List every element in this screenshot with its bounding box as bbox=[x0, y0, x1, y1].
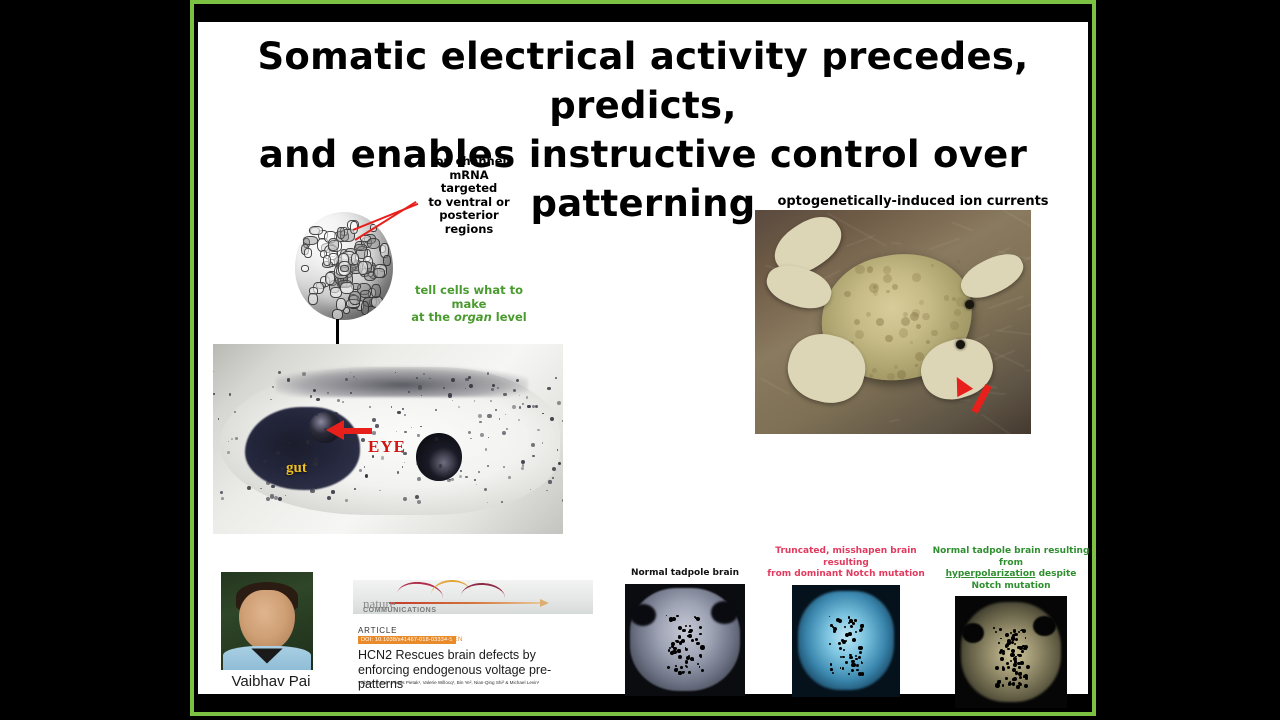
eye-arrow-shaft bbox=[342, 428, 372, 434]
article-kicker: ARTICLE bbox=[358, 626, 397, 635]
brain-image-notch bbox=[792, 585, 900, 697]
anno-ion-l3: targeted bbox=[441, 181, 498, 195]
brain-panel-rescued: Normal tadpole brain resulting from hype… bbox=[931, 546, 1091, 708]
anno-ion-l6: regions bbox=[445, 222, 494, 236]
credit-card-vaibhav-pai: Vaibhav Pai bbox=[213, 572, 343, 694]
brain-caption-rescued-l1: Normal tadpole brain resulting from bbox=[933, 546, 1090, 568]
embryo-illustration bbox=[295, 212, 393, 320]
paper-thumbnail[interactable]: nature COMMUNICATIONS ARTICLE DOI: 10.10… bbox=[353, 570, 599, 694]
brain-caption-rescued: Normal tadpole brain resulting from hype… bbox=[931, 546, 1091, 592]
brain-eye-right-rescued bbox=[1033, 616, 1055, 636]
embryo-diagram-panel: ion channel mRNA targeted to ventral or … bbox=[273, 157, 593, 357]
label-eye: EYE bbox=[368, 437, 406, 457]
brain-image-normal bbox=[625, 584, 745, 696]
brain-panel-notch-mutant: Truncated, misshapen brain resulting fro… bbox=[766, 546, 926, 697]
article-authors: Vaibhav P. Pai ¹, Alexis Pietak¹, Valeri… bbox=[358, 680, 593, 686]
journal-subtitle: COMMUNICATIONS bbox=[363, 607, 437, 614]
slide-letterbox: Somatic electrical activity precedes, pr… bbox=[194, 4, 1092, 712]
brain-eye-left-normal bbox=[630, 604, 656, 626]
eye-arrow-head bbox=[326, 420, 344, 440]
nature-wave-3 bbox=[460, 582, 505, 612]
optogenetics-caption: optogenetically-induced ion currents bbox=[758, 194, 1068, 209]
anno-ion-l5: posterior bbox=[439, 208, 498, 222]
slide-green-frame: Somatic electrical activity precedes, pr… bbox=[190, 0, 1096, 716]
brain-eye-left-rescued bbox=[962, 623, 984, 643]
slide-canvas: Somatic electrical activity precedes, pr… bbox=[198, 22, 1088, 694]
tadpole-native-eye bbox=[416, 433, 462, 481]
tadpole-ectopic-eye-photo: EYE gut bbox=[213, 344, 563, 534]
anno-tell-emphasis: organ bbox=[454, 310, 492, 324]
nature-rule-line bbox=[389, 602, 541, 604]
open-access-label: OPEN bbox=[443, 636, 463, 643]
brain-caption-notch-l1: Truncated, misshapen brain resulting bbox=[775, 546, 916, 568]
label-gut: gut bbox=[286, 460, 307, 477]
anno-tell-l3: at the organ level bbox=[411, 310, 527, 324]
anno-ion-l4: to ventral or bbox=[428, 195, 509, 209]
frog-arrow-icon bbox=[951, 378, 995, 422]
eye-arrow-icon bbox=[326, 420, 372, 440]
frog-extra-limb-photo bbox=[755, 210, 1031, 434]
frog-eye-left bbox=[965, 300, 974, 309]
journal-masthead: nature COMMUNICATIONS bbox=[353, 580, 593, 614]
brain-caption-notch: Truncated, misshapen brain resulting fro… bbox=[766, 546, 926, 581]
frog-arrow-shaft bbox=[971, 384, 991, 414]
embryo-cell-grid bbox=[295, 212, 393, 320]
avatar bbox=[221, 572, 313, 670]
annotation-ion-channel-mrna: ion channel mRNA targeted to ventral or … bbox=[409, 155, 529, 236]
anno-tell-l2: make bbox=[452, 297, 487, 311]
brain-eye-right-normal bbox=[711, 601, 737, 623]
tadpole-dorsal-pigment bbox=[276, 367, 528, 397]
doi-badge: DOI: 10.1038/s41467-018-03334-5 bbox=[358, 636, 456, 644]
anno-ion-l1: ion channel bbox=[432, 154, 507, 168]
title-line-1: Somatic electrical activity precedes, pr… bbox=[198, 32, 1088, 130]
brain-caption-rescued-underline: hyperpolarization bbox=[946, 569, 1036, 579]
credit-name-label: Vaibhav Pai bbox=[213, 673, 329, 690]
brain-caption-normal: Normal tadpole brain bbox=[610, 546, 760, 580]
brain-panel-normal: Normal tadpole brain bbox=[610, 546, 760, 696]
brain-caption-notch-l2: from dominant Notch mutation bbox=[767, 569, 925, 579]
anno-ion-l2: mRNA bbox=[449, 168, 488, 182]
brain-image-rescued bbox=[955, 596, 1067, 708]
slide-stage: Somatic electrical activity precedes, pr… bbox=[0, 0, 1280, 720]
anno-tell-l1: tell cells what to bbox=[415, 283, 523, 297]
avatar-face bbox=[239, 590, 294, 651]
annotation-tell-cells: tell cells what to make at the organ lev… bbox=[403, 284, 535, 325]
bottom-row: Vaibhav Pai nature COMMUNICATIONS ARTICL… bbox=[198, 546, 1088, 694]
